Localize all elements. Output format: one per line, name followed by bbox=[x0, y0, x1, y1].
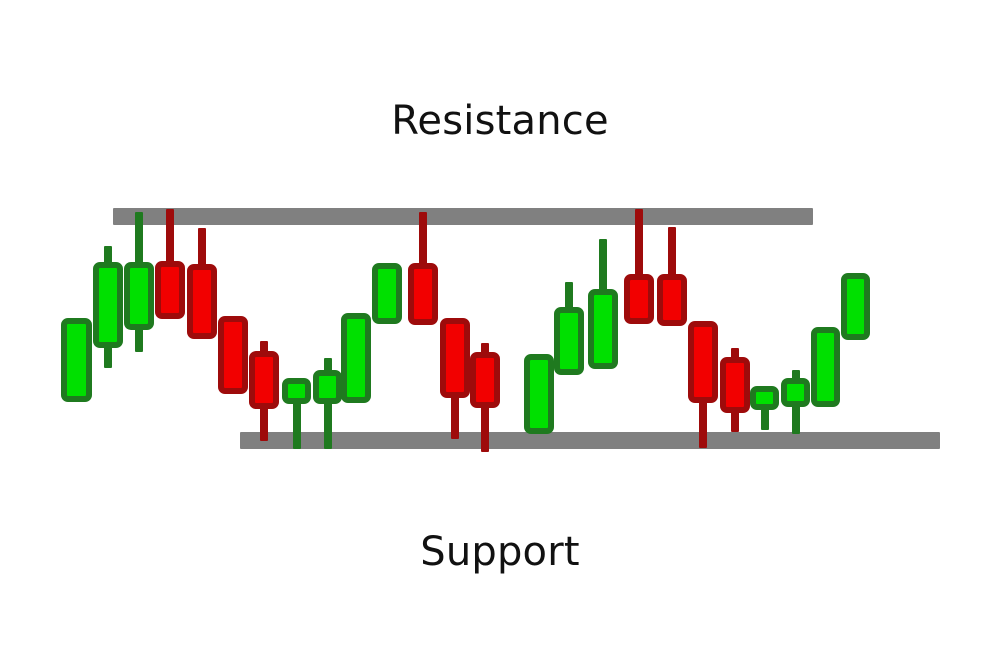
candlestick-chart: Resistance Support bbox=[0, 0, 1000, 667]
candle-24-bullish bbox=[841, 273, 870, 340]
candle-16-body bbox=[588, 289, 618, 369]
candle-6-bearish bbox=[249, 341, 279, 441]
candle-1-bullish bbox=[93, 246, 123, 368]
candle-20-body bbox=[720, 357, 750, 413]
candle-23-bullish bbox=[811, 327, 840, 407]
candle-5-body bbox=[218, 316, 248, 394]
candle-6-body bbox=[249, 351, 279, 409]
candle-24-body bbox=[841, 273, 870, 340]
candle-2-body bbox=[124, 262, 154, 330]
candle-2-bullish bbox=[124, 212, 154, 352]
candle-3-bearish bbox=[155, 209, 185, 319]
candle-10-body bbox=[372, 263, 402, 324]
candle-11-body bbox=[408, 263, 438, 325]
candle-23-body bbox=[811, 327, 840, 407]
candle-13-body bbox=[470, 352, 500, 408]
candle-0-body bbox=[61, 318, 92, 402]
candle-19-bearish bbox=[688, 321, 718, 448]
candle-14-bullish bbox=[524, 354, 554, 434]
candle-18-bearish bbox=[657, 227, 687, 326]
candle-21-bullish bbox=[750, 386, 779, 430]
candle-12-body bbox=[440, 318, 470, 398]
candle-22-body bbox=[781, 378, 810, 407]
candle-16-bullish bbox=[588, 239, 618, 369]
candle-7-body bbox=[282, 378, 311, 404]
candle-20-bearish bbox=[720, 348, 750, 432]
candle-15-body bbox=[554, 307, 584, 375]
candle-17-bearish bbox=[624, 209, 654, 324]
candle-22-bullish bbox=[781, 370, 810, 434]
candle-9-body bbox=[341, 313, 371, 403]
candle-9-bullish bbox=[341, 313, 371, 403]
candle-4-body bbox=[187, 264, 217, 339]
candle-19-body bbox=[688, 321, 718, 403]
support-label: Support bbox=[0, 532, 1000, 572]
candle-13-bearish bbox=[470, 343, 500, 452]
candle-21-body bbox=[750, 386, 779, 410]
candle-4-bearish bbox=[187, 228, 217, 339]
candle-17-body bbox=[624, 274, 654, 324]
candle-15-bullish bbox=[554, 282, 584, 375]
candle-7-bullish bbox=[282, 378, 311, 449]
candle-5-bearish bbox=[218, 316, 248, 394]
candle-3-body bbox=[155, 261, 185, 319]
support-level-line bbox=[240, 432, 940, 449]
candle-8-body bbox=[313, 370, 342, 404]
candle-10-bullish bbox=[372, 263, 402, 324]
candle-8-bullish bbox=[313, 358, 342, 449]
resistance-level-line bbox=[113, 208, 813, 225]
candle-12-bearish bbox=[440, 318, 470, 439]
candle-14-body bbox=[524, 354, 554, 434]
candle-1-body bbox=[93, 262, 123, 348]
candle-11-bearish bbox=[408, 212, 438, 325]
candle-18-body bbox=[657, 274, 687, 326]
candle-0-bullish bbox=[61, 318, 92, 402]
